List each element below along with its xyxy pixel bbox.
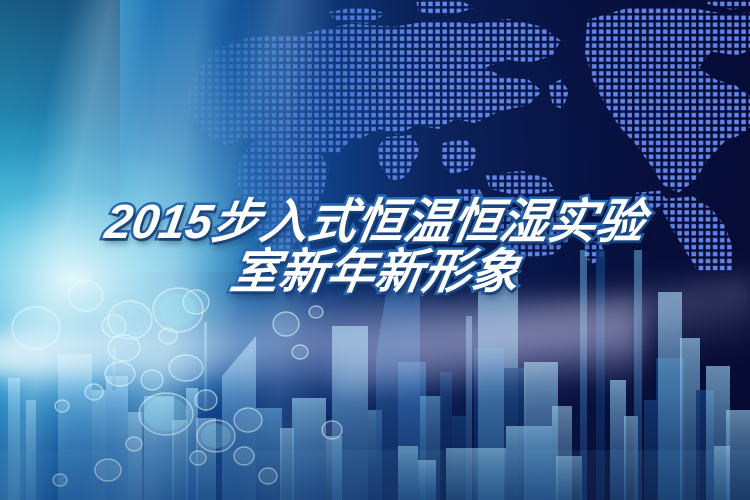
banner-image: 2015步入式恒温恒湿实验 室新年新形象 [0, 0, 750, 500]
bottom-vignette [0, 0, 750, 500]
